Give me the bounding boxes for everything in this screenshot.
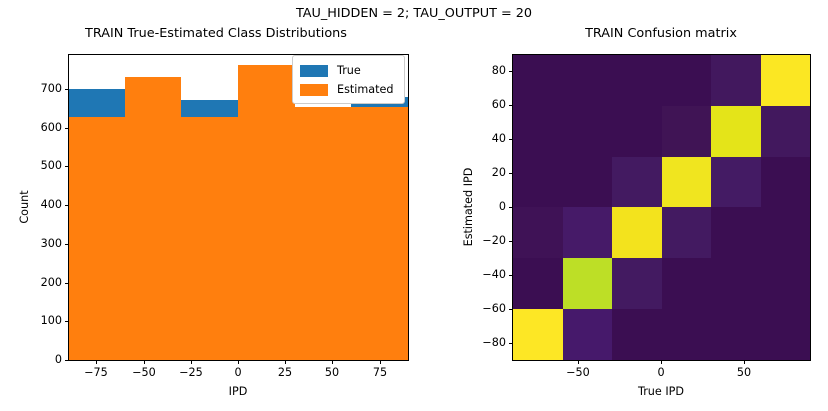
histogram-bar-estimated [295, 107, 352, 360]
histogram-ylabel: Count [18, 54, 31, 360]
confusion-matrix-cell [563, 309, 613, 360]
confusion-matrix-xtick-label: 50 [714, 366, 774, 379]
tick-mark [65, 360, 69, 361]
axis-spine-right [408, 54, 409, 361]
confusion-matrix-cell [513, 309, 563, 360]
confusion-matrix-cell [662, 309, 712, 360]
histogram-bar-estimated [238, 65, 295, 360]
confusion-matrix-title: TRAIN Confusion matrix [512, 26, 810, 41]
tick-mark [285, 360, 286, 364]
tick-mark [191, 360, 192, 364]
tick-mark [661, 360, 662, 364]
confusion-matrix-xtick-label: −50 [548, 366, 608, 379]
confusion-matrix-cell [761, 207, 811, 258]
confusion-matrix-ytick-label: 20 [446, 166, 506, 179]
confusion-matrix-cell [612, 106, 662, 157]
confusion-matrix-ytick-label: −60 [446, 302, 506, 315]
tick-mark [65, 166, 69, 167]
histogram-xtick-label: 75 [350, 366, 410, 379]
tick-mark [332, 360, 333, 364]
confusion-matrix-plot-area [513, 55, 810, 360]
tick-mark [509, 139, 513, 140]
confusion-matrix-cell [761, 258, 811, 309]
histogram-ytick-label: 200 [2, 276, 62, 289]
confusion-matrix-cell [513, 55, 563, 106]
confusion-matrix-cell [612, 157, 662, 208]
histogram-ytick-label: 600 [2, 121, 62, 134]
confusion-matrix-cell [563, 106, 613, 157]
histogram-ytick-label: 100 [2, 314, 62, 327]
confusion-matrix-cell [761, 309, 811, 360]
confusion-matrix-ytick-label: 60 [446, 98, 506, 111]
confusion-matrix-cell [513, 157, 563, 208]
confusion-matrix-cell [761, 55, 811, 106]
confusion-matrix-cell [612, 309, 662, 360]
axis-spine-right [810, 54, 811, 361]
histogram-bar-estimated [69, 117, 125, 360]
confusion-matrix-cell [711, 258, 761, 309]
confusion-matrix-cell [563, 207, 613, 258]
confusion-matrix-cell [711, 207, 761, 258]
tick-mark [578, 360, 579, 364]
confusion-matrix-ytick-label: −20 [446, 234, 506, 247]
confusion-matrix-cell [662, 106, 712, 157]
confusion-matrix-cell [563, 258, 613, 309]
tick-mark [65, 283, 69, 284]
confusion-matrix-ytick-label: −40 [446, 268, 506, 281]
confusion-matrix-cell [662, 207, 712, 258]
histogram-ytick-label: 700 [2, 82, 62, 95]
confusion-matrix-cell [711, 106, 761, 157]
confusion-matrix-ytick-label: 40 [446, 132, 506, 145]
confusion-matrix-axes [512, 54, 810, 360]
confusion-matrix-cell [513, 258, 563, 309]
tick-mark [509, 105, 513, 106]
histogram-bar-estimated [181, 117, 238, 360]
confusion-matrix-cell [761, 106, 811, 157]
histogram-ytick-label: 300 [2, 237, 62, 250]
tick-mark [65, 205, 69, 206]
confusion-matrix-cell [662, 157, 712, 208]
confusion-matrix-cell [612, 207, 662, 258]
tick-mark [509, 241, 513, 242]
tick-mark [509, 173, 513, 174]
tick-mark [65, 128, 69, 129]
confusion-matrix-xtick-label: 0 [631, 366, 691, 379]
confusion-matrix-cell [711, 55, 761, 106]
histogram-legend[interactable]: True Estimated [292, 55, 405, 104]
histogram-bar-estimated [125, 77, 182, 360]
legend-label-estimated: Estimated [337, 83, 394, 96]
histogram-ytick-label: 500 [2, 159, 62, 172]
tick-mark [509, 275, 513, 276]
confusion-matrix-cell [761, 157, 811, 208]
tick-mark [65, 89, 69, 90]
matplotlib-figure: TAU_HIDDEN = 2; TAU_OUTPUT = 20 TRAIN Tr… [0, 0, 828, 411]
confusion-matrix-ylabel: Estimated IPD [462, 54, 475, 360]
legend-item-true[interactable]: True [300, 61, 397, 80]
confusion-matrix-cell [662, 258, 712, 309]
tick-mark [509, 343, 513, 344]
confusion-matrix-cell [513, 207, 563, 258]
confusion-matrix-cell [563, 157, 613, 208]
legend-label-true: True [337, 64, 361, 77]
histogram-bar-estimated [351, 107, 408, 360]
tick-mark [238, 360, 239, 364]
tick-mark [509, 309, 513, 310]
tick-mark [380, 360, 381, 364]
tick-mark [65, 244, 69, 245]
tick-mark [65, 321, 69, 322]
confusion-matrix-ytick-label: −80 [446, 336, 506, 349]
tick-mark [744, 360, 745, 364]
histogram-ytick-label: 400 [2, 198, 62, 211]
confusion-matrix-xlabel: True IPD [512, 385, 810, 398]
tick-mark [144, 360, 145, 364]
legend-swatch-true [300, 65, 328, 77]
tick-mark [509, 207, 513, 208]
confusion-matrix-cell [612, 258, 662, 309]
legend-swatch-estimated [300, 84, 328, 96]
tick-mark [509, 71, 513, 72]
figure-suptitle: TAU_HIDDEN = 2; TAU_OUTPUT = 20 [0, 6, 828, 21]
confusion-matrix-cell [711, 157, 761, 208]
confusion-matrix-ytick-label: 80 [446, 64, 506, 77]
confusion-matrix-ytick-label: 0 [446, 200, 506, 213]
confusion-matrix-cell [513, 106, 563, 157]
histogram-title: TRAIN True-Estimated Class Distributions [36, 26, 396, 41]
confusion-matrix-cell [563, 55, 613, 106]
confusion-matrix-cell [662, 55, 712, 106]
histogram-xlabel: IPD [68, 385, 408, 398]
confusion-matrix-cell [711, 309, 761, 360]
histogram-ytick-label: 0 [2, 353, 62, 366]
legend-item-estimated[interactable]: Estimated [300, 80, 397, 99]
confusion-matrix-cell [612, 55, 662, 106]
tick-mark [96, 360, 97, 364]
